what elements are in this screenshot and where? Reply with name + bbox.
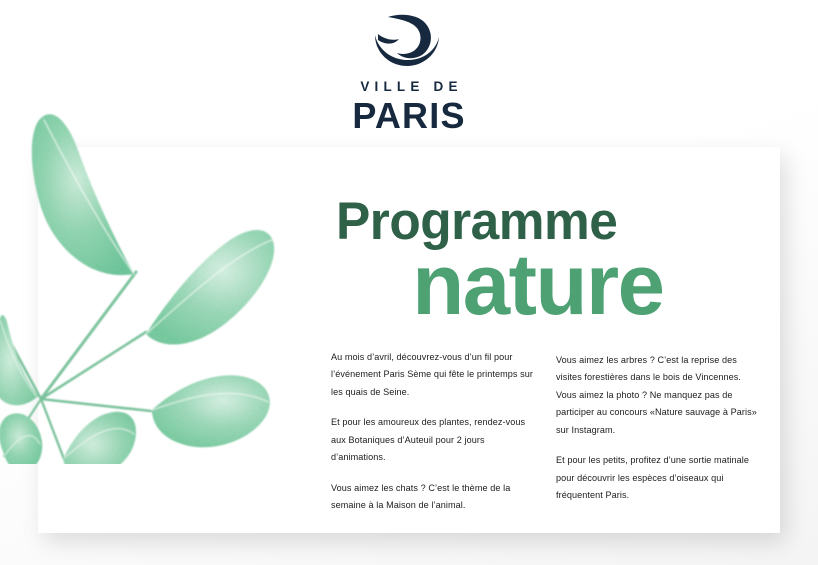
paragraph: Et pour les amoureux des plantes, rendez… — [331, 414, 536, 466]
poster-stage: VILLE DE PARIS — [0, 0, 818, 565]
body-column-right: Vous aimez les arbres ? C’est la reprise… — [556, 349, 761, 515]
logo-text-paris: PARIS — [0, 97, 818, 135]
paragraph: Au mois d’avril, découvrez-vous d’un fil… — [331, 349, 536, 401]
headline-line-nature: nature — [336, 249, 664, 323]
paris-boat-logo-icon — [370, 8, 448, 74]
paragraph: Vous aimez les arbres ? C’est la reprise… — [556, 352, 761, 439]
body-column-left: Au mois d’avril, découvrez-vous d’un fil… — [331, 349, 536, 515]
ville-de-paris-logo: VILLE DE PARIS — [0, 8, 818, 134]
poster-headline: Programme nature — [336, 198, 667, 323]
body-copy: Au mois d’avril, découvrez-vous d’un fil… — [331, 349, 761, 515]
logo-text-ville-de: VILLE DE — [0, 80, 818, 94]
paragraph: Et pour les petits, profitez d’une sorti… — [556, 452, 761, 504]
paragraph: Vous aimez les chats ? C’est le thème de… — [331, 480, 536, 515]
